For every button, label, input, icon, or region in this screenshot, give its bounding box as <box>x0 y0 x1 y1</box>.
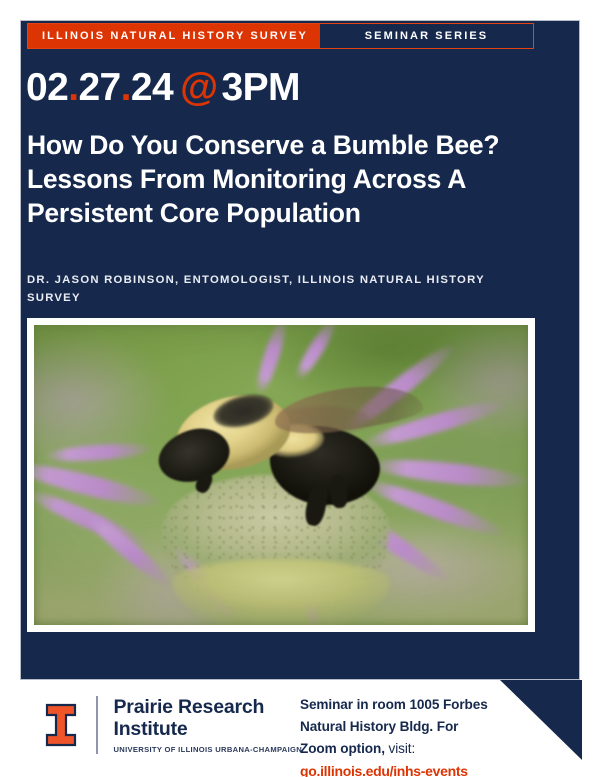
dateline-separator-2: . <box>121 66 131 109</box>
speaker-byline: DR. JASON ROBINSON, ENTOMOLOGIST, ILLINO… <box>27 272 507 307</box>
venue-details: Seminar in room 1005 Forbes Natural Hist… <box>300 694 550 777</box>
event-day: 27 <box>78 66 120 109</box>
at-symbol: @ <box>180 66 217 109</box>
seminar-poster: ILLINOIS NATURAL HISTORY SURVEY SEMINAR … <box>0 0 600 777</box>
eyebrow-organization: ILLINOIS NATURAL HISTORY SURVEY <box>28 24 320 48</box>
photo-frame <box>27 318 535 632</box>
bee-fore-wing <box>272 379 425 439</box>
prairie-research-institute-logo: Prairie Research Institute UNIVERSITY OF… <box>44 696 302 754</box>
logo-divider <box>96 696 98 754</box>
bumble-bee-photo <box>34 325 528 625</box>
venue-zoom-label: Zoom option, <box>300 741 385 756</box>
eyebrow-organization-label: ILLINOIS NATURAL HISTORY SURVEY <box>42 31 308 42</box>
event-month: 02 <box>26 66 68 109</box>
logo-wordmark: Prairie Research Institute UNIVERSITY OF… <box>114 696 303 754</box>
logo-name-line-2: Institute <box>114 718 303 740</box>
dateline-separator-1: . <box>68 66 78 109</box>
venue-visit-label: visit: <box>385 741 415 756</box>
event-year: 24 <box>131 66 173 109</box>
event-time: 3PM <box>222 66 300 109</box>
logo-name-line-1: Prairie Research <box>114 696 303 718</box>
poster-footer: Prairie Research Institute UNIVERSITY OF… <box>0 680 600 777</box>
event-dateline: 02.27.24@3PM <box>26 66 300 110</box>
logo-subtitle: UNIVERSITY OF ILLINOIS URBANA-CHAMPAIGN <box>114 745 303 754</box>
venue-line-2: Natural History Bldg. For <box>300 716 550 738</box>
venue-line-1: Seminar in room 1005 Forbes <box>300 694 550 716</box>
venue-line-3: Zoom option, visit: <box>300 738 550 760</box>
illinois-block-i-icon <box>44 703 78 747</box>
event-url-link[interactable]: go.illinois.edu/inhs-events <box>300 761 550 777</box>
flower-lower-bracts <box>172 559 389 625</box>
eyebrow-banner: ILLINOIS NATURAL HISTORY SURVEY SEMINAR … <box>27 23 534 49</box>
eyebrow-series-label: SEMINAR SERIES <box>365 31 489 42</box>
eyebrow-series: SEMINAR SERIES <box>320 24 533 48</box>
seminar-title: How Do You Conserve a Bumble Bee? Lesson… <box>27 128 522 231</box>
bumble-bee <box>153 385 430 535</box>
